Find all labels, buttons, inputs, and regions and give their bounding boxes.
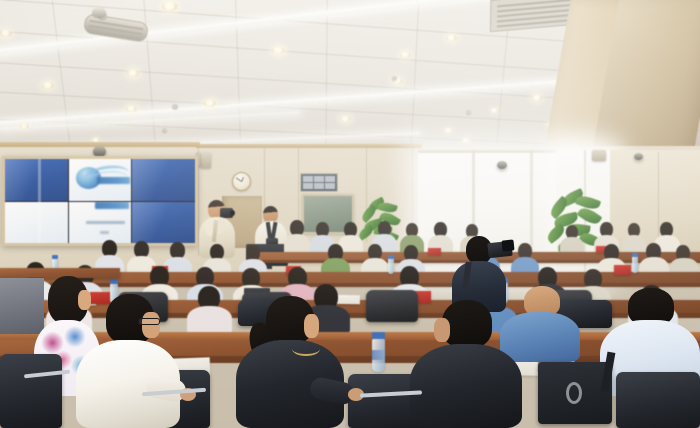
recessed-downlight — [340, 116, 351, 122]
conference-room-photo — [0, 0, 700, 428]
video-camera-hood — [501, 239, 514, 251]
sprinkler-head — [466, 110, 471, 114]
wall-speaker — [200, 152, 211, 168]
presentation-slide — [69, 159, 132, 201]
recessed-downlight — [532, 95, 542, 101]
wall-speaker — [592, 150, 606, 161]
dome-security-camera — [497, 161, 507, 169]
attendee-dark-shirt-right — [408, 300, 524, 428]
video-wall-panel — [5, 159, 68, 201]
bag-buckle — [566, 382, 582, 404]
office-chair[interactable] — [616, 372, 700, 428]
sprinkler-head — [172, 104, 178, 109]
recessed-downlight — [42, 82, 54, 89]
attendee-face — [142, 312, 160, 338]
recessed-downlight — [490, 108, 499, 113]
attendee-white-shirt-glasses — [76, 294, 184, 428]
recessed-downlight — [204, 100, 216, 107]
recessed-downlight — [126, 106, 137, 112]
smoke-detector — [92, 8, 106, 17]
attendee-torso — [410, 344, 522, 428]
bottle-label — [372, 350, 385, 360]
wall-clock — [232, 172, 251, 191]
dome-security-camera — [634, 153, 643, 160]
eyeglasses — [138, 318, 160, 325]
recessed-downlight — [400, 52, 411, 58]
slide-title-line-1 — [97, 177, 130, 184]
attendee-dark-top-ponytail — [236, 296, 348, 428]
attendee-face — [304, 314, 319, 338]
recessed-downlight — [444, 128, 453, 133]
recessed-downlight — [127, 70, 139, 77]
attendee-face — [434, 318, 450, 342]
video-wall-panel — [132, 159, 195, 201]
sprinkler-head — [162, 128, 167, 132]
recessed-downlight — [0, 30, 12, 37]
bottle-cap — [372, 332, 385, 339]
office-chair[interactable] — [0, 354, 62, 428]
recessed-downlight — [20, 124, 29, 129]
slide-title-line-2 — [95, 202, 129, 209]
sprinkler-head — [392, 76, 397, 80]
audience-torso — [187, 306, 232, 334]
recessed-downlight — [462, 138, 470, 143]
wall-sign-display — [300, 173, 338, 192]
necklace — [292, 342, 320, 356]
recessed-downlight — [162, 2, 178, 11]
recessed-downlight — [277, 50, 283, 54]
recessed-downlight — [446, 35, 457, 41]
